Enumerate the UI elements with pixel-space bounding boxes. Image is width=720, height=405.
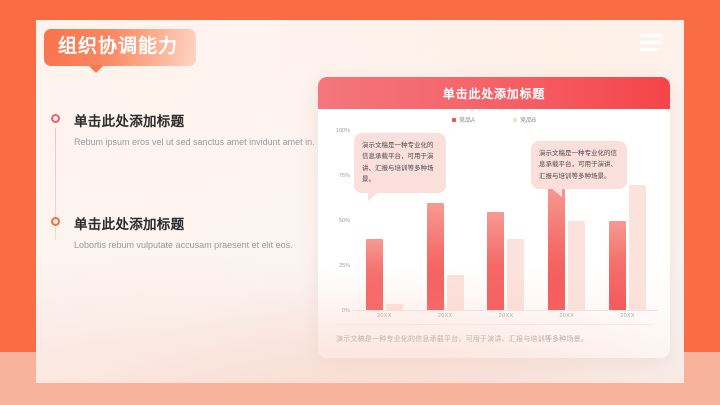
chart-card: 单击此处添加标题 竞品A 竞品B 0%25%50%75%100% — [318, 77, 670, 358]
legend-swatch-icon — [513, 118, 517, 122]
legend-item-a: 竞品A — [452, 115, 475, 124]
card-caption: 演示文稿是一种专业化的信息承载平台，可用于演讲、汇报与培训等多种场景。 — [336, 334, 652, 344]
chart-bar-group — [427, 203, 464, 311]
chart-x-axis: 20XX20XX20XX20XX20XX — [354, 313, 658, 319]
chart-bar-b — [629, 185, 646, 311]
hamburger-line — [640, 41, 662, 44]
chart-bar-group — [366, 239, 403, 311]
chart-bar-b — [568, 221, 585, 311]
hamburger-line — [640, 34, 662, 37]
list-item[interactable]: 单击此处添加标题 Rebum ipsum eros vel ut sed san… — [48, 110, 328, 150]
callout-tail-icon — [368, 192, 379, 201]
chart-bar-a — [427, 203, 444, 311]
title-pointer-icon — [88, 65, 104, 73]
list-item-title: 单击此处添加标题 — [74, 110, 328, 130]
slide-root: 组织协调能力 单击此处添加标题 Rebum ipsum eros vel ut … — [0, 0, 720, 405]
chart-x-tick: 20XX — [486, 313, 526, 319]
list-item[interactable]: 单击此处添加标题 Lobortis rebum vulputate accusa… — [48, 213, 328, 253]
chart-baseline — [352, 310, 658, 311]
chart-y-tick: 50% — [339, 218, 350, 224]
chart-callout-right: 演示文稿是一种专业化的信息承载平台，可用于演讲、汇报与培训等多种场景。 — [531, 141, 627, 189]
chart-card-body: 竞品A 竞品B 0%25%50%75%100% 20XX20XX20XX20XX… — [318, 109, 670, 358]
bullet-dot-icon — [51, 114, 60, 123]
chart-y-tick: 75% — [339, 173, 350, 179]
card-divider — [336, 324, 652, 325]
chart-callout-left: 演示文稿是一种专业化的信息承载平台，可用于演讲、汇报与培训等多种场景。 — [354, 133, 446, 193]
chart-bar-a — [609, 221, 626, 311]
chart-bar-a — [366, 239, 383, 311]
chart-x-tick: 20XX — [547, 313, 587, 319]
chart-y-tick: 0% — [342, 308, 350, 314]
chart-x-tick: 20XX — [608, 313, 648, 319]
legend-label: 竞品B — [520, 115, 536, 124]
slide-canvas: 组织协调能力 单击此处添加标题 Rebum ipsum eros vel ut … — [36, 20, 684, 383]
page-title-wrap: 组织协调能力 — [44, 29, 196, 66]
bullet-list: 单击此处添加标题 Rebum ipsum eros vel ut sed san… — [48, 110, 328, 253]
chart-bar-b — [447, 275, 464, 311]
chart-legend: 竞品A 竞品B — [318, 115, 670, 124]
chart-y-axis: 0%25%50%75%100% — [320, 131, 350, 311]
list-item-desc: Rebum ipsum eros vel ut sed sanctus amet… — [74, 136, 324, 150]
legend-label: 竞品A — [459, 115, 475, 124]
legend-swatch-icon — [452, 118, 456, 122]
chart-bar-group — [609, 185, 646, 311]
callout-text: 演示文稿是一种专业化的信息承载平台，可用于演讲、汇报与培训等多种场景。 — [362, 142, 434, 183]
page-title: 组织协调能力 — [44, 29, 196, 66]
callout-text: 演示文稿是一种专业化的信息承载平台，可用于演讲、汇报与培训等多种场景。 — [539, 150, 617, 180]
bullet-dot-icon — [51, 217, 60, 226]
chart-bar-b — [507, 239, 524, 311]
chart-bar-group — [548, 185, 585, 311]
callout-tail-icon — [551, 188, 562, 197]
chart-bar-a — [487, 212, 504, 311]
chart-bar-a — [548, 185, 565, 311]
chart-y-tick: 25% — [339, 263, 350, 269]
chart-card-title: 单击此处添加标题 — [318, 77, 670, 109]
chart-x-tick: 20XX — [425, 313, 465, 319]
chart-y-tick: 100% — [336, 128, 350, 134]
hamburger-line — [640, 48, 658, 51]
list-item-desc: Lobortis rebum vulputate accusam praesen… — [74, 239, 324, 253]
hamburger-icon[interactable] — [640, 34, 662, 51]
chart-x-tick: 20XX — [364, 313, 404, 319]
list-item-title: 单击此处添加标题 — [74, 213, 328, 233]
legend-item-b: 竞品B — [513, 115, 536, 124]
chart-bar-group — [487, 212, 524, 311]
